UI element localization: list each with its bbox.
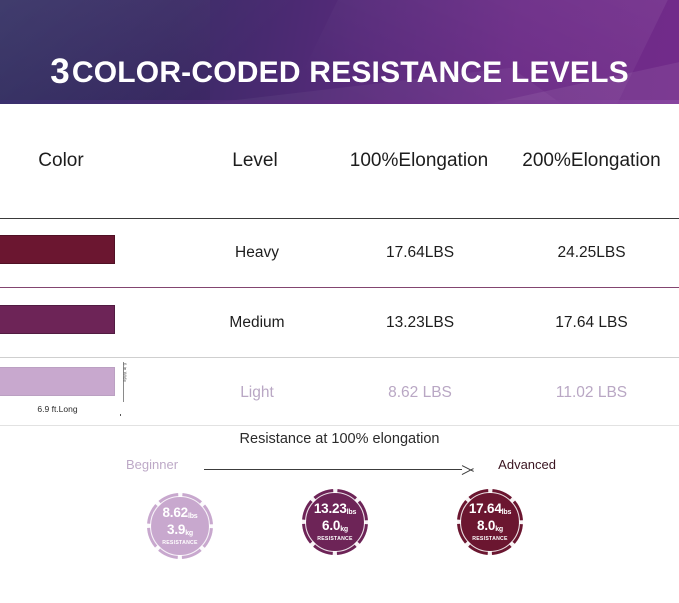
column-header-color: Color [0, 150, 178, 172]
difficulty-scale: Beginner Advanced [126, 455, 556, 477]
column-header-elongation-200: 200%Elongation [504, 150, 679, 172]
color-swatch-light [0, 367, 115, 396]
page-title: 3COLOR-CODED RESISTANCE LEVELS [0, 54, 679, 89]
scale-label-advanced: Advanced [498, 457, 556, 472]
elongation-100-value: 13.23LBS [336, 314, 504, 332]
elongation-200-value: 11.02 LBS [504, 384, 679, 402]
gauge-light-ring-icon [145, 491, 215, 561]
elongation-200-value: 17.64 LBS [504, 314, 679, 332]
color-swatch-heavy [0, 235, 115, 264]
length-dimension: 6.9 ft.Long [0, 404, 123, 418]
table-row: Heavy 17.64LBS 24.25LBS [0, 218, 679, 288]
elongation-200-value: 24.25LBS [504, 244, 679, 262]
table-row: Medium 13.23LBS 17.64 LBS [0, 288, 679, 358]
scale-arrow-head [462, 464, 474, 476]
length-dimension-label-wrap: 6.9 ft.Long [0, 404, 123, 414]
resistance-table: Color Level 100%Elongation 200%Elongatio… [0, 104, 679, 429]
column-header-elongation-100: 100%Elongation [336, 150, 504, 172]
scale-label-beginner: Beginner [126, 457, 178, 472]
color-swatch-medium [0, 305, 115, 334]
title-text: COLOR-CODED RESISTANCE LEVELS [72, 56, 629, 89]
header-banner: 3COLOR-CODED RESISTANCE LEVELS [0, 0, 679, 104]
color-cell [0, 218, 178, 288]
gauge-medium-ring-icon [300, 487, 370, 557]
color-cell: 6 in.Wide 6.9 ft.Long [0, 358, 178, 428]
color-cell [0, 288, 178, 358]
table-header-row: Color Level 100%Elongation 200%Elongatio… [0, 104, 679, 218]
level-value: Medium [178, 314, 336, 332]
level-value: Light [178, 384, 336, 402]
length-dimension-label: 6.9 ft.Long [34, 404, 80, 414]
scale-arrow-shaft [204, 469, 462, 470]
gauge-light: 8.62lbs 3.9kg RESISTANCE [145, 491, 215, 561]
column-header-level: Level [178, 150, 336, 172]
scale-arrow-icon [204, 464, 474, 476]
gauge-medium: 13.23lbs 6.0kg RESISTANCE [300, 487, 370, 557]
width-dimension-label: 6 in.Wide [123, 353, 128, 393]
table-row: 6 in.Wide 6.9 ft.Long Light 8.62 LBS 11.… [0, 358, 679, 428]
resistance-scale-chart: Resistance at 100% elongation Beginner A… [0, 429, 679, 603]
elongation-100-value: 17.64LBS [336, 244, 504, 262]
width-dimension: 6 in.Wide [118, 362, 130, 402]
gauge-group: 8.62lbs 3.9kg RESISTANCE 13.23lbs 6.0kg … [0, 487, 679, 603]
elongation-100-value: 8.62 LBS [336, 384, 504, 402]
title-count: 3 [50, 52, 70, 91]
level-value: Heavy [178, 244, 336, 262]
gauge-heavy-ring-icon [455, 487, 525, 557]
gauge-heavy: 17.64lbs 8.0kg RESISTANCE [455, 487, 525, 557]
chart-title: Resistance at 100% elongation [0, 431, 679, 447]
